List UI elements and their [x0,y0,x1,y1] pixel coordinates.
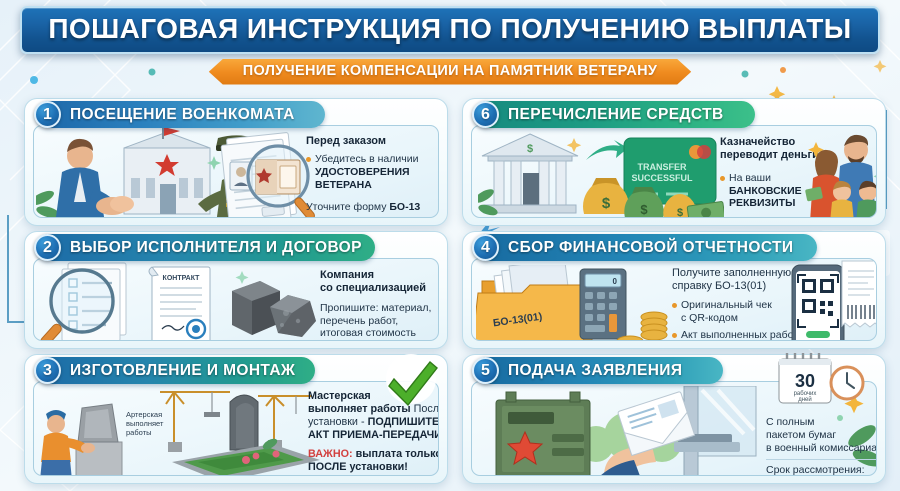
step-1-body: Перед заказом Убедитесь в наличии УДОСТО… [33,125,439,218]
calendar-caption-line2: дней [798,396,812,403]
step-5-title: ПОДАЧА ЗАЯВЛЕНИЯ [508,362,682,380]
green-check-icon [375,351,447,409]
step-6-bullet-line2: БАНКОВСКИЕ [729,185,802,198]
step-2-body-line3: итоговая стоимость [320,327,439,340]
illustration-bank: $ [478,130,586,218]
title-block: ПОШАГОВАЯ ИНСТРУКЦИЯ ПО ПОЛУЧЕНИЮ ВЫПЛАТ… [0,6,900,85]
step-1-bullet-line2: УДОСТОВЕРЕНИЯ ВЕТЕРАНА [315,166,439,192]
bullet-dot [720,176,725,181]
step-4-bullet1-line2: с QR-кодом [681,312,772,325]
step-5-divider [766,459,877,460]
step-4-bullet2: Акт выполненных работ [681,329,798,341]
step-3-number: 3 [34,357,61,384]
illustration-family [804,130,877,218]
step-2-heading-line2: со специализацией [320,282,439,295]
contract-label: КОНТРАКТ [163,275,201,282]
step-panel-2[interactable]: 2 ВЫБОР ИСПОЛНИТЕЛЯ И ДОГОВОР КОНТРАКТ [24,231,448,349]
illustration-contract: КОНТРАКТ [138,261,224,341]
step-3-header: 3 ИЗГОТОВЛЕНИЕ И МОНТАЖ [35,357,315,384]
bank-dollar-symbol: $ [527,143,533,155]
step-5-text: С полным пакетом бумаг в военный комисса… [766,416,877,476]
step-1-bullet-line1: Убедитесь в наличии [315,153,439,166]
step-1-note-prefix: Уточните форму [306,201,389,213]
step-6-bullet-line3: РЕКВИЗИТЫ [729,197,802,210]
calculator-display: 0 [613,277,618,286]
step-2-body-line2: перечень работ, [320,315,439,328]
step-panel-6[interactable]: 6 ПЕРЕЧИСЛЕНИЕ СРЕДСТВ $ T [462,98,886,226]
step-5-line2: пакетом бумаг [766,429,877,442]
calendar-30-days-badge: 30 рабочих дней [773,351,883,409]
step-4-number: 4 [472,234,499,261]
step-4-title: СБОР ФИНАНСОВОЙ ОТЧЕТНОСТИ [508,239,793,257]
step-1-note-bold: БО-13 [389,201,420,213]
step-2-heading-line1: Компания [320,269,439,282]
step-5-number: 5 [472,357,499,384]
step-6-title: ПЕРЕЧИСЛЕНИЕ СРЕДСТВ [508,106,724,124]
step-2-title: ВЫБОР ИСПОЛНИТЕЛЯ И ДОГОВОР [70,239,362,257]
step-2-text: Компания со специализацией Пропишите: ма… [320,269,439,340]
illustration-receipt [838,259,877,333]
card-line1: TRANSFER [638,162,687,172]
step-5-header: 5 ПОДАЧА ЗАЯВЛЕНИЯ [473,357,723,384]
step-1-number: 1 [34,101,61,128]
step-2-body-line1: Пропишите: материал, [320,302,439,315]
step-6-body: $ TRANSFER SUCCESSFUL $ [471,125,877,218]
page-subtitle: ПОЛУЧЕНИЕ КОМПЕНСАЦИИ НА ПАМЯТНИК ВЕТЕРА… [209,59,691,85]
bullet-dot [672,303,677,308]
illustration-money-bags: $ $ $ [576,172,724,218]
page-title: ПОШАГОВАЯ ИНСТРУКЦИЯ ПО ПОЛУЧЕНИЮ ВЫПЛАТ… [20,6,879,54]
step-panel-4[interactable]: 4 СБОР ФИНАНСОВОЙ ОТЧЕТНОСТИ БО-13(01) 0 [462,231,886,349]
money-symbol-3: $ [677,207,683,218]
transfer-arrow-icon [584,138,626,168]
step-5-footer-label: Срок рассмотрения: [766,464,877,476]
step-5-line3: в военный комиссариат [766,442,877,455]
step-5-line1: С полным [766,416,877,429]
step-2-number: 2 [34,234,61,261]
step-4-body: БО-13(01) 0 Получите заполне [471,258,877,341]
money-symbol-1: $ [602,195,611,212]
bullet-dot [306,157,311,162]
step-1-header: 1 ПОСЕЩЕНИЕ ВОЕНКОМАТА [35,101,325,128]
step-4-header: 4 СБОР ФИНАНСОВОЙ ОТЧЕТНОСТИ [473,234,817,261]
calendar-number: 30 [795,371,815,391]
bullet-dot [672,333,677,338]
step-4-bullet1-line1: Оригинальный чек [681,299,772,312]
step-panel-1[interactable]: 1 ПОСЕЩЕНИЕ ВОЕНКОМАТА [24,98,448,226]
step-6-bullet-line1: На ваши [729,172,802,185]
step-3-title: ИЗГОТОВЛЕНИЕ И МОНТАЖ [70,362,295,380]
step-3-line3-reg: установки - [308,416,368,428]
step-3-warning-rest: выплата только [353,448,439,460]
step-3-line3-bold: ПОДПИШИТЕ [368,416,439,428]
step-1-heading: Перед заказом [306,135,439,148]
step-3-warning-label: ВАЖНО: [308,448,353,460]
money-symbol-2: $ [640,202,648,217]
step-1-text: Перед заказом Убедитесь в наличии УДОСТО… [306,135,439,214]
illustration-mailbox-submission [478,386,778,476]
step-panel-5[interactable]: 5 ПОДАЧА ЗАЯВЛЕНИЯ 30 рабочих дней [462,354,886,484]
illustration-checklist-magnifier [40,261,148,341]
step-3-line4: АКТ ПРИЕМА-ПЕРЕДАЧИ [308,429,439,442]
step-2-body: КОНТРАКТ Компания со сп [33,258,439,341]
illustration-monument-installation [152,382,322,476]
step-3-warning-line2: ПОСЛЕ установки! [308,461,439,474]
illustration-granite-blocks [226,269,322,341]
step-panel-3[interactable]: 3 ИЗГОТОВЛЕНИЕ И МОНТАЖ Артер [24,354,448,484]
step-1-title: ПОСЕЩЕНИЕ ВОЕНКОМАТА [70,106,295,124]
step-2-header: 2 ВЫБОР ИСПОЛНИТЕЛЯ И ДОГОВОР [35,234,375,261]
step-6-header: 6 ПЕРЕЧИСЛЕНИЕ СРЕДСТВ [473,101,755,128]
step-6-number: 6 [472,101,499,128]
